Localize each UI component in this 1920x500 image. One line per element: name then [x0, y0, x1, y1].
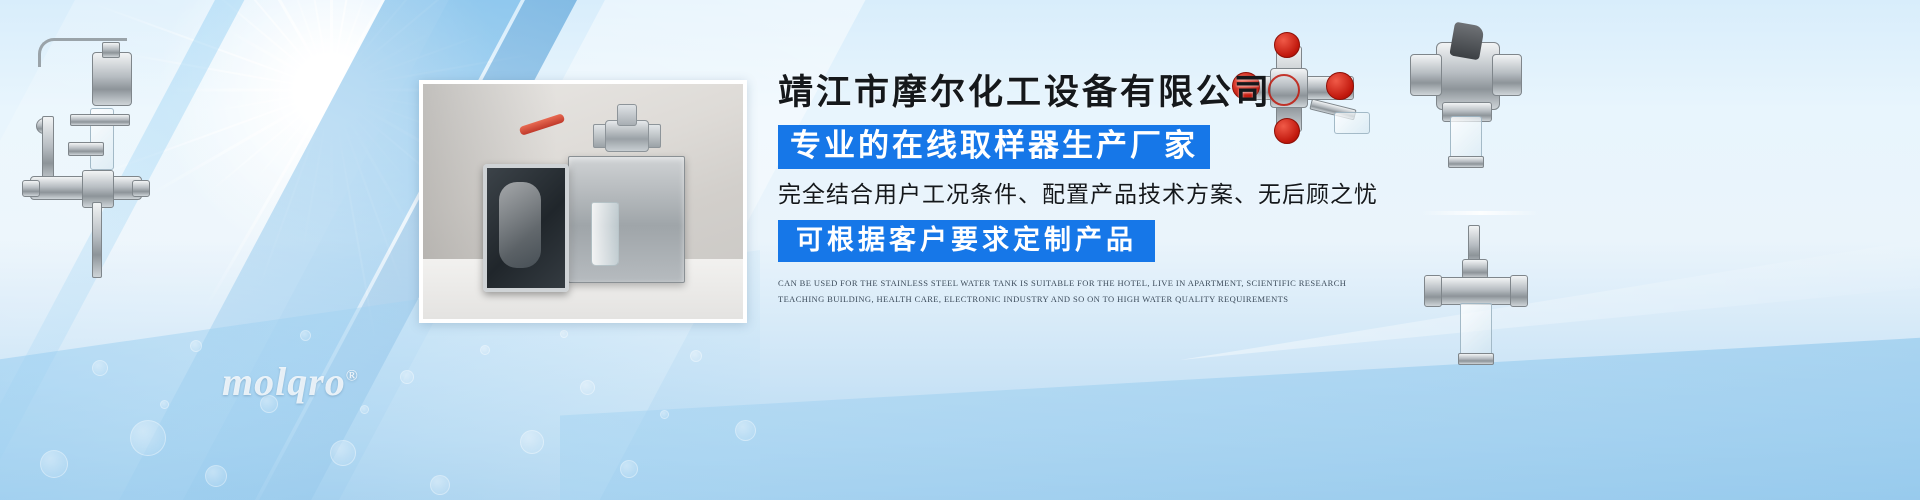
sun-ray [330, 0, 466, 90]
bubble [92, 360, 108, 376]
sun-ray [301, 0, 331, 90]
bubble-cluster [0, 300, 820, 500]
bubble [520, 430, 544, 454]
bubble [660, 410, 669, 419]
headline-secondary-wrap: 可根据客户要求定制产品 [778, 209, 1418, 262]
sun-ray [204, 89, 331, 196]
diagonal-stripe-white-wide [0, 0, 451, 500]
sun-ray [203, 0, 333, 91]
company-name: 靖江市摩尔化工设备有限公司 [778, 74, 1418, 113]
registered-mark-icon: ® [346, 368, 359, 385]
sun-ray [167, 89, 332, 92]
sun-ray [212, 89, 330, 111]
bubble [480, 345, 490, 355]
bubble [130, 420, 166, 456]
watermark-text: molqro [222, 359, 346, 404]
sun-ray [124, 53, 331, 91]
bubble [735, 420, 756, 441]
bubble [205, 465, 227, 487]
diagonal-stripe-light [0, 0, 323, 500]
bubble [40, 450, 68, 478]
sun-ray [330, 0, 526, 91]
bubble [620, 460, 638, 478]
bubble [430, 475, 450, 495]
bubble [580, 380, 595, 395]
wedge-lower-right [560, 300, 1920, 500]
sun-ray [91, 89, 331, 178]
sun-ray [330, 0, 376, 90]
sun-ray [289, 0, 331, 90]
left-equipment-assembly [10, 30, 170, 300]
sun-ray [258, 90, 331, 288]
promo-banner: 靖江市摩尔化工设备有限公司 专业的在线取样器生产厂家 完全结合用户工况条件、配置… [0, 0, 1920, 500]
sun-ray [203, 89, 333, 311]
subline-text: 完全结合用户工况条件、配置产品技术方案、无后顾之忧 [778, 181, 1418, 209]
sun-ray [330, 90, 403, 288]
bottom-right-inline-sampling-valve [1420, 225, 1550, 385]
bubble [330, 440, 356, 466]
sun-ray [330, 0, 372, 90]
bubble [360, 405, 369, 414]
sun-ray [204, 0, 331, 91]
sun-ray [227, 29, 332, 92]
sun-ray [330, 90, 333, 210]
bubble [160, 400, 169, 409]
headline-primary: 专业的在线取样器生产厂家 [778, 125, 1210, 170]
sun-ray [330, 90, 376, 341]
sun-ray [149, 89, 332, 197]
product-photo [419, 80, 747, 323]
banner-text-block: 靖江市摩尔化工设备有限公司 专业的在线取样器生产厂家 完全结合用户工况条件、配置… [778, 74, 1418, 307]
sun-ray [301, 90, 331, 253]
sun-ray [330, 90, 408, 183]
sun-ray [330, 0, 415, 91]
sun-ray [253, 90, 331, 183]
brand-watermark: molqro® [222, 358, 359, 405]
sun-ray [91, 2, 331, 91]
english-caption: CAN BE USED FOR THE STAINLESS STEEL WATE… [778, 276, 1388, 307]
bubble [300, 330, 311, 341]
sun-ray [195, 0, 331, 90]
headline-secondary: 可根据客户要求定制产品 [778, 220, 1155, 262]
bubble [690, 350, 702, 362]
bubble [190, 340, 202, 352]
sun-ray [330, 0, 333, 90]
headline-primary-wrap: 专业的在线取样器生产厂家 [778, 125, 1418, 170]
bubble [400, 370, 414, 384]
bubble [560, 330, 568, 338]
sun-ray [330, 89, 415, 233]
